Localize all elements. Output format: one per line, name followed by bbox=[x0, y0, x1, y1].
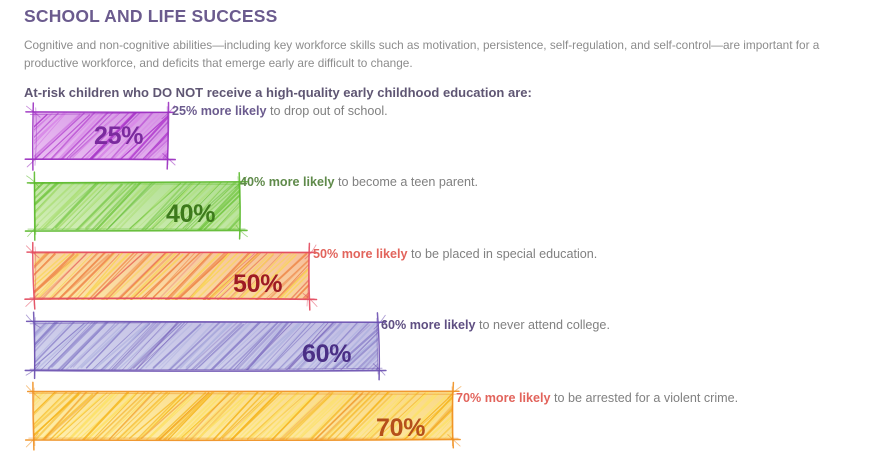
row-description: 70% more likely to be arrested for a vio… bbox=[456, 390, 738, 406]
row-rest-text: to become a teen parent. bbox=[335, 175, 479, 189]
bar-sketch bbox=[18, 236, 325, 316]
bar-60-percent: 60% bbox=[18, 306, 394, 376]
row-description: 50% more likely to be placed in special … bbox=[313, 246, 597, 262]
row-lead-text: 60% more likely bbox=[381, 318, 476, 332]
row-lead-text: 50% more likely bbox=[313, 247, 408, 261]
row-description: 25% more likely to drop out of school. bbox=[172, 103, 388, 119]
bar-chart: 25%40%50%60%70% bbox=[0, 96, 878, 446]
bar-sketch bbox=[18, 96, 184, 176]
chart-row: 25% bbox=[0, 96, 878, 166]
row-rest-text: to be placed in special education. bbox=[408, 247, 598, 261]
bar-sketch bbox=[18, 376, 469, 456]
row-lead-text: 70% more likely bbox=[456, 391, 551, 405]
chart-row: 70% bbox=[0, 376, 878, 446]
bar-sketch bbox=[18, 306, 394, 386]
bar-70-percent: 70% bbox=[18, 376, 469, 446]
intro-paragraph: Cognitive and non-cognitive abilities—in… bbox=[24, 36, 824, 72]
bar-40-percent: 40% bbox=[18, 166, 256, 236]
bar-sketch bbox=[18, 166, 256, 246]
infographic-page: SCHOOL AND LIFE SUCCESS Cognitive and no… bbox=[0, 0, 878, 458]
row-description: 60% more likely to never attend college. bbox=[381, 317, 610, 333]
row-rest-text: to be arrested for a violent crime. bbox=[551, 391, 739, 405]
row-rest-text: to never attend college. bbox=[476, 318, 610, 332]
row-lead-text: 25% more likely bbox=[172, 104, 267, 118]
bar-50-percent: 50% bbox=[18, 236, 325, 306]
row-rest-text: to drop out of school. bbox=[267, 104, 388, 118]
row-description: 40% more likely to become a teen parent. bbox=[240, 174, 478, 190]
bar-25-percent: 25% bbox=[18, 96, 184, 166]
row-lead-text: 40% more likely bbox=[240, 175, 335, 189]
page-title: SCHOOL AND LIFE SUCCESS bbox=[24, 4, 854, 28]
header-block: SCHOOL AND LIFE SUCCESS Cognitive and no… bbox=[24, 4, 854, 102]
